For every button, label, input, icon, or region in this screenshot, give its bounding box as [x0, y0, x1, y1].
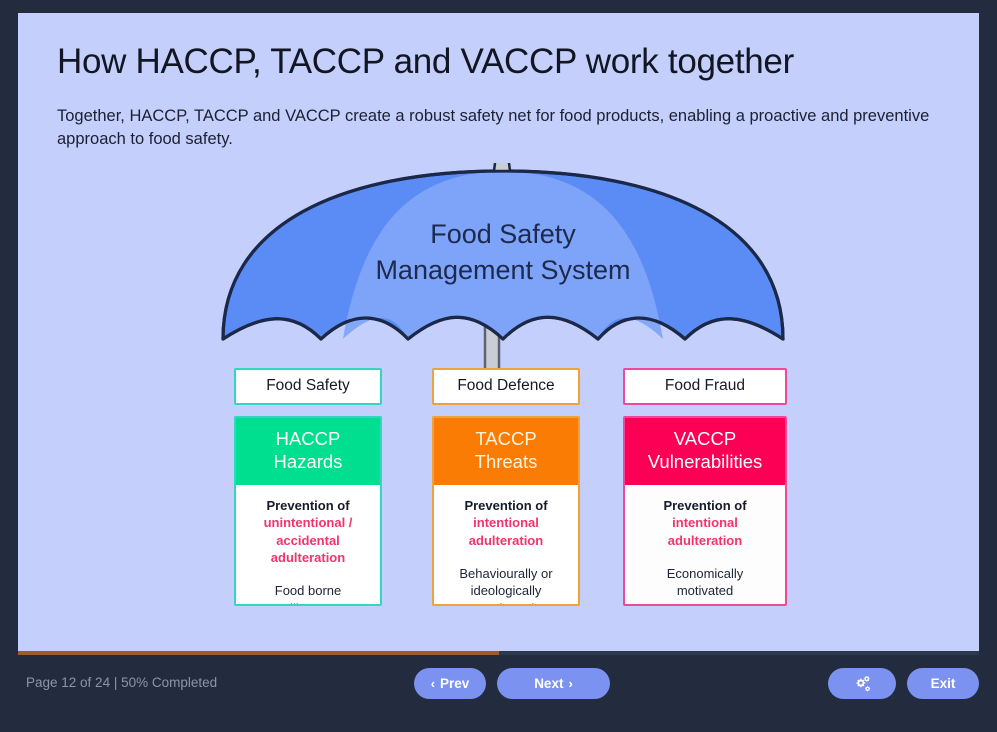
motive-line2: ideologically	[440, 582, 572, 599]
column-header-vaccp: VACCP Vulnerabilities	[625, 418, 785, 485]
prev-button-label: Prev	[440, 676, 469, 691]
slide-canvas: How HACCP, TACCP and VACCP work together…	[18, 13, 979, 651]
motive-block: Food borne illness	[242, 582, 374, 606]
column-content-vaccp: Prevention of intentional adulteration E…	[625, 485, 785, 605]
motive-line1: Behaviourally or	[440, 565, 572, 582]
prevention-emphasis-line1: intentional	[631, 514, 779, 531]
prevention-emphasis-line1: intentional	[440, 514, 572, 531]
column-header-line1: TACCP	[438, 428, 574, 451]
column-header-line1: VACCP	[629, 428, 781, 451]
prevention-emphasis-line1: unintentional /	[242, 514, 374, 531]
player-footer: Page 12 of 24 | 50% Completed ‹ Prev Nex…	[0, 651, 997, 732]
page-title: How HACCP, TACCP and VACCP work together	[57, 42, 794, 82]
chevron-right-icon: ›	[568, 676, 572, 691]
column-card-haccp: HACCP Hazards Prevention of unintentiona…	[234, 416, 382, 606]
column-tag-food-fraud: Food Fraud	[623, 368, 787, 405]
umbrella-icon: Food Safety Management System	[213, 163, 793, 373]
motive-line2: illness	[242, 600, 374, 606]
footer-actions: Exit	[828, 668, 979, 699]
progress-bar-fill	[18, 651, 499, 655]
column-content-taccp: Prevention of intentional adulteration B…	[434, 485, 578, 606]
umbrella-diagram: Food Safety Management System Food Safet…	[18, 163, 979, 623]
motive-line1: Food borne	[242, 582, 374, 599]
prevention-emphasis-line2: accidental	[242, 532, 374, 549]
column-header-line1: HACCP	[240, 428, 376, 451]
exit-button[interactable]: Exit	[907, 668, 979, 699]
column-header-haccp: HACCP Hazards	[236, 418, 380, 485]
umbrella-finial	[494, 163, 510, 171]
column-card-vaccp: VACCP Vulnerabilities Prevention of inte…	[623, 416, 787, 606]
category-columns: Food Safety HACCP Hazards Prevention of …	[18, 368, 979, 618]
prevention-lead: Prevention of	[440, 497, 572, 514]
column-tag-food-safety: Food Safety	[234, 368, 382, 405]
motive-line2: motivated	[631, 582, 779, 599]
page-status-text: Page 12 of 24 | 50% Completed	[26, 675, 217, 690]
column-food-defence: Food Defence TACCP Threats Prevention of…	[432, 368, 580, 606]
column-content-haccp: Prevention of unintentional / accidental…	[236, 485, 380, 606]
column-header-taccp: TACCP Threats	[434, 418, 578, 485]
motive-block: Economically motivated	[631, 565, 779, 600]
chevron-left-icon: ‹	[431, 676, 435, 691]
player-frame: How HACCP, TACCP and VACCP work together…	[0, 0, 997, 732]
next-button-label: Next	[534, 676, 563, 691]
prevention-emphasis-line2: adulteration	[440, 532, 572, 549]
umbrella-label-line1: Food Safety	[430, 219, 576, 249]
column-tag-food-defence: Food Defence	[432, 368, 580, 405]
prevention-emphasis-line3: adulteration	[242, 549, 374, 566]
navigation-buttons: ‹ Prev Next ›	[414, 668, 610, 699]
motive-line3: motivated	[440, 600, 572, 606]
column-header-line2: Hazards	[240, 451, 376, 474]
umbrella-label-line2: Management System	[375, 255, 630, 285]
slide-subtitle: Together, HACCP, TACCP and VACCP create …	[57, 105, 937, 152]
column-food-safety: Food Safety HACCP Hazards Prevention of …	[234, 368, 382, 606]
cogs-icon	[853, 675, 872, 692]
prev-button[interactable]: ‹ Prev	[414, 668, 486, 699]
motive-line1: Economically	[631, 565, 779, 582]
motive-block: Behaviourally or ideologically motivated	[440, 565, 572, 606]
next-button[interactable]: Next ›	[497, 668, 610, 699]
progress-bar-track[interactable]	[18, 651, 979, 655]
column-header-line2: Vulnerabilities	[629, 451, 781, 474]
prevention-block: Prevention of unintentional / accidental…	[242, 497, 374, 566]
column-card-taccp: TACCP Threats Prevention of intentional …	[432, 416, 580, 606]
prevention-block: Prevention of intentional adulteration	[440, 497, 572, 549]
prevention-lead: Prevention of	[631, 497, 779, 514]
column-header-line2: Threats	[438, 451, 574, 474]
settings-button[interactable]	[828, 668, 896, 699]
column-food-fraud: Food Fraud VACCP Vulnerabilities Prevent…	[623, 368, 787, 606]
prevention-lead: Prevention of	[242, 497, 374, 514]
prevention-block: Prevention of intentional adulteration	[631, 497, 779, 549]
prevention-emphasis-line2: adulteration	[631, 532, 779, 549]
exit-button-label: Exit	[931, 676, 956, 691]
